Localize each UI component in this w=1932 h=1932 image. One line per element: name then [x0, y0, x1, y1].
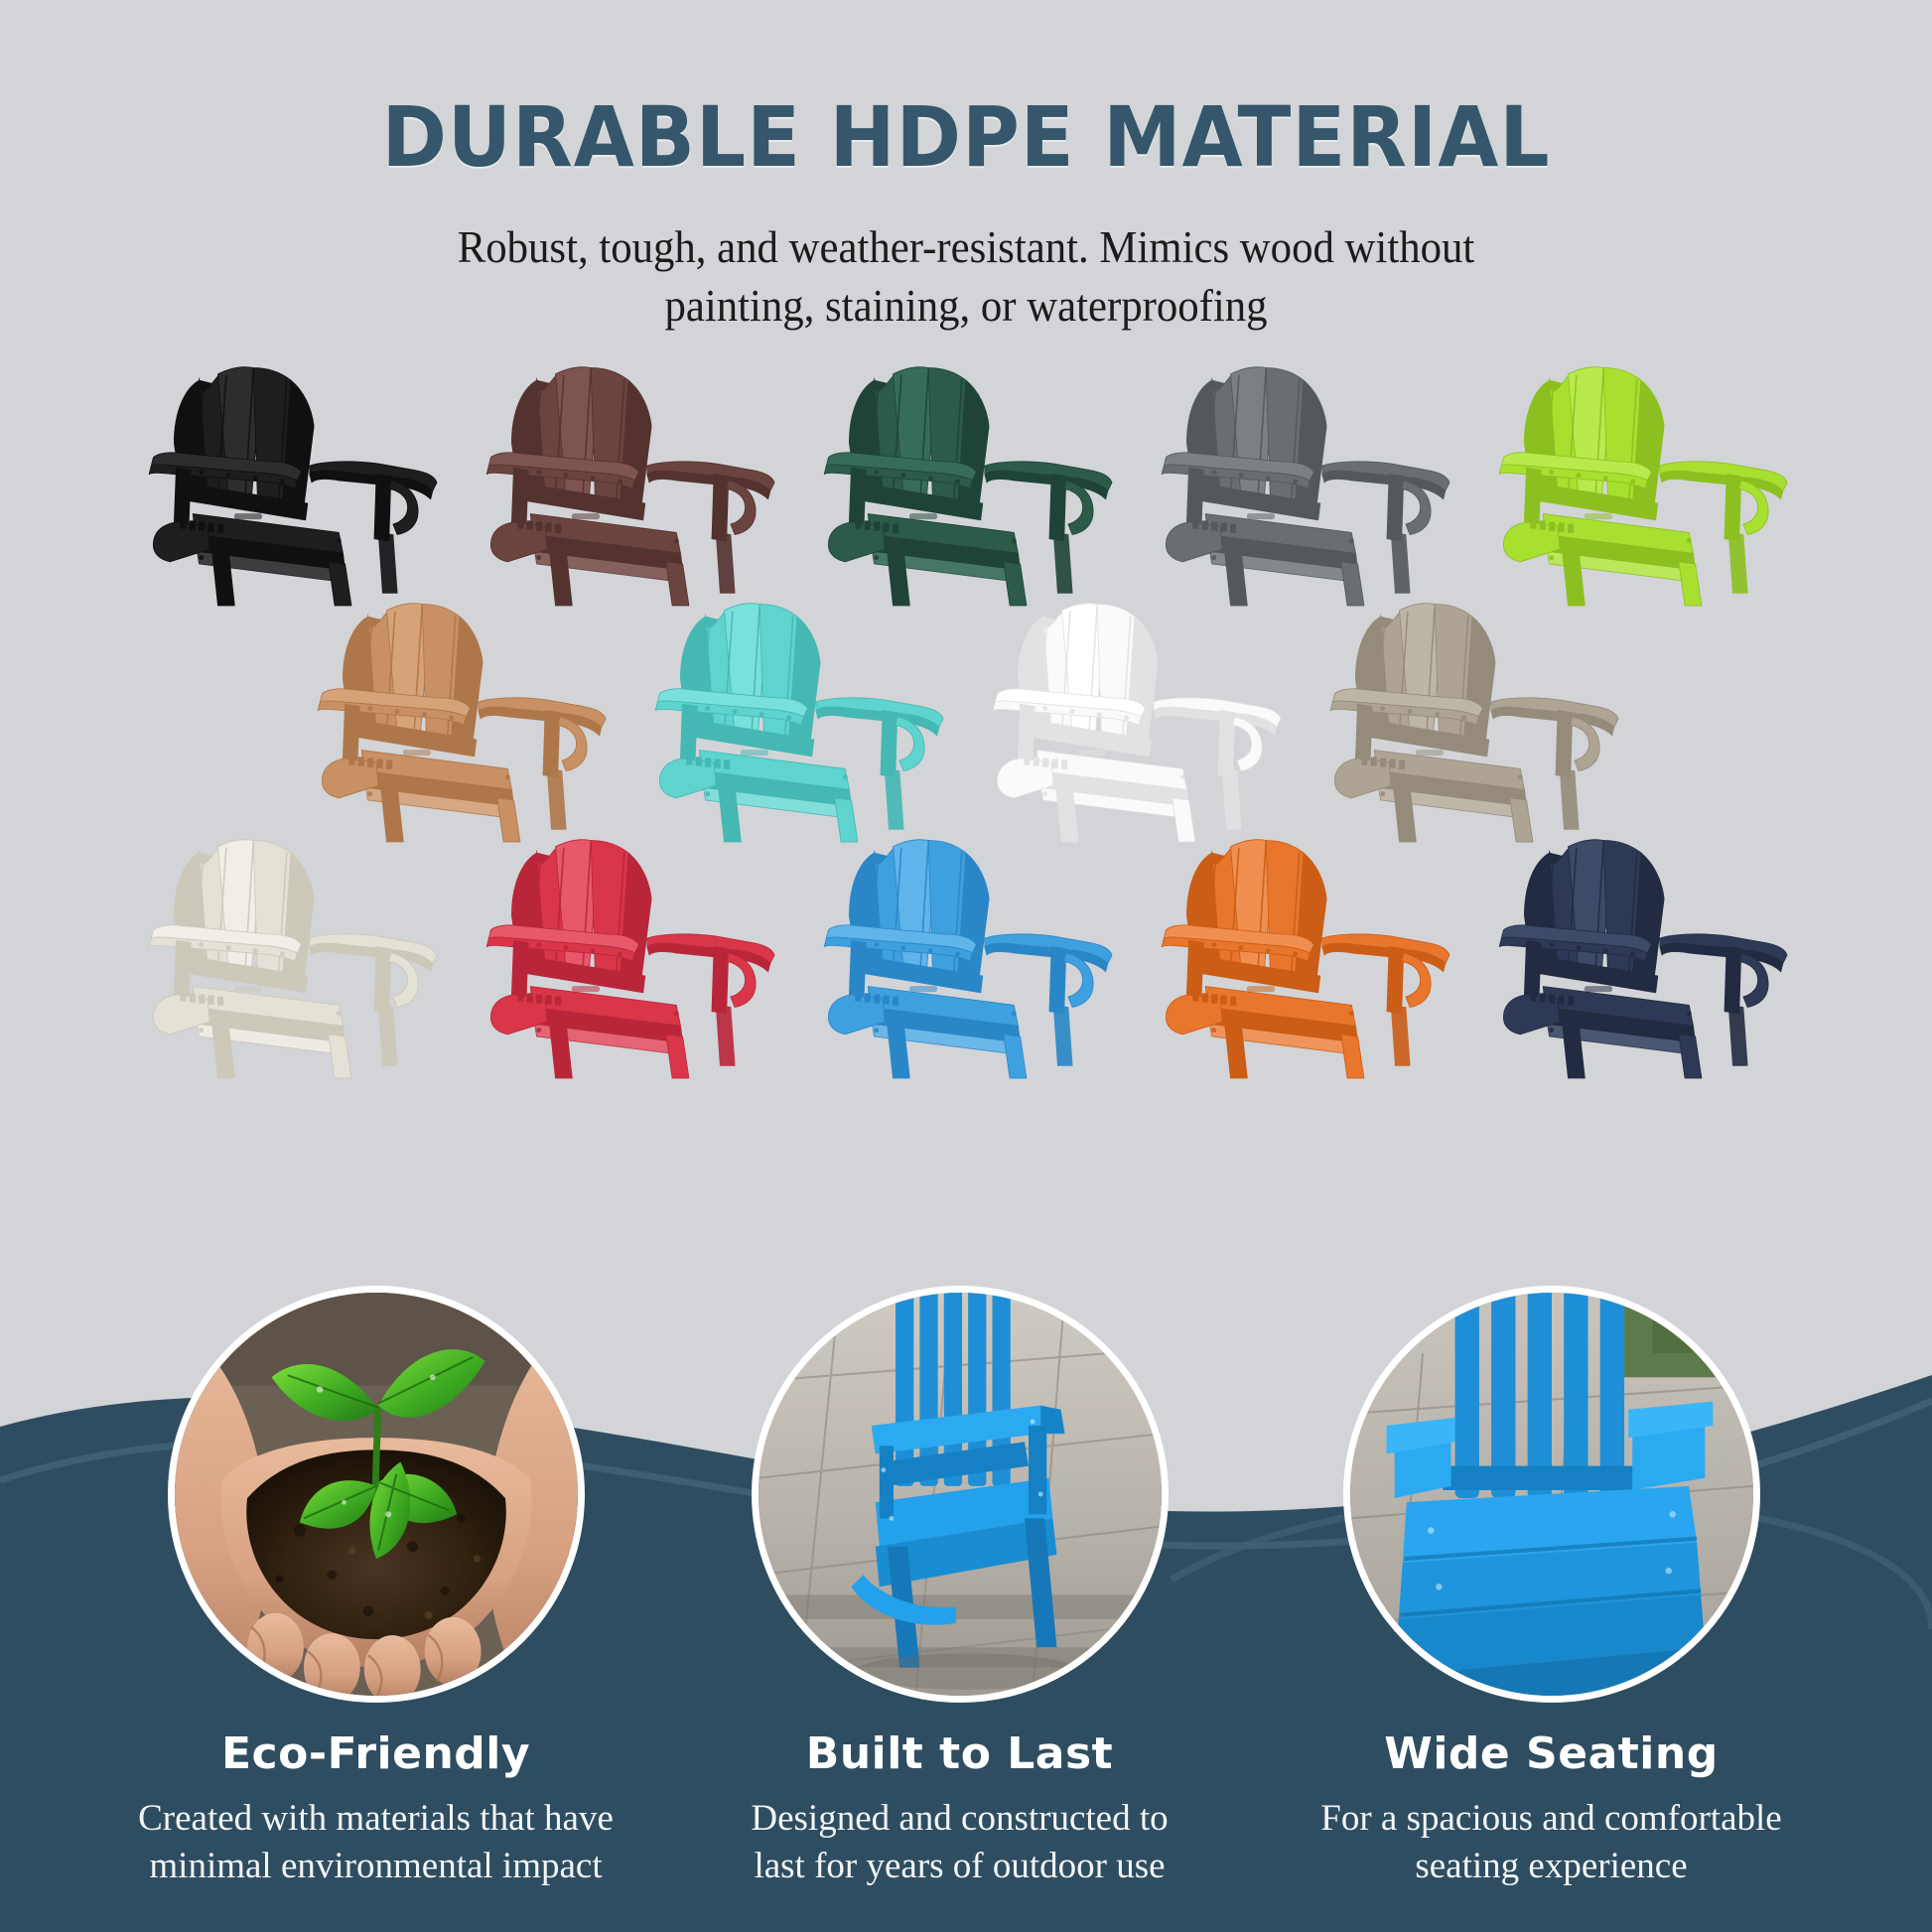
chair-swatch-weathered-wood[interactable]: [1314, 594, 1630, 844]
infographic-canvas: DURABLE HDPE MATERIAL Robust, tough, and…: [0, 0, 1932, 1932]
chair-swatch-blue[interactable]: [808, 830, 1124, 1080]
chair-swatch-turquoise[interactable]: [639, 594, 955, 844]
chair-white-icon: [977, 594, 1293, 844]
feature-built-to-last: Built to Last Designed and constructed t…: [695, 1286, 1224, 1890]
chair-swatch-ivory[interactable]: [133, 830, 449, 1080]
chair-turquoise-icon: [639, 594, 955, 844]
chair-blue-icon: [808, 830, 1124, 1080]
header: DURABLE HDPE MATERIAL Robust, tough, and…: [0, 0, 1932, 336]
feature-image-eco-friendly: [168, 1286, 585, 1703]
feature-desc-line-1: Designed and constructed to: [701, 1795, 1218, 1843]
feature-title: Built to Last: [695, 1728, 1224, 1779]
chair-color-grid: [0, 357, 1932, 1080]
page-title: DURABLE HDPE MATERIAL: [58, 0, 1873, 179]
chair-red-icon: [471, 830, 786, 1080]
feature-image-wide-seating: [1343, 1286, 1760, 1703]
chair-navy-icon: [1483, 830, 1799, 1080]
page-subtitle: Robust, tough, and weather-resistant. Mi…: [68, 218, 1864, 336]
chair-ivory-icon: [133, 830, 449, 1080]
chair-swatch-lime[interactable]: [1483, 357, 1799, 608]
chair-black-icon: [133, 357, 449, 608]
subtitle-line-1: Robust, tough, and weather-resistant. Mi…: [345, 218, 1587, 277]
chair-swatch-navy[interactable]: [1483, 830, 1799, 1080]
feature-description: Created with materials that have minimal…: [111, 1795, 640, 1890]
chair-swatch-brown[interactable]: [471, 357, 786, 608]
chair-swatch-red[interactable]: [471, 830, 786, 1080]
feature-title: Wide Seating: [1287, 1728, 1816, 1779]
feature-highlights: Eco-Friendly Created with materials that…: [0, 1177, 1932, 1932]
chair-row-2: [0, 594, 1932, 844]
feature-wide-seating: Wide Seating For a spacious and comforta…: [1287, 1286, 1816, 1890]
feature-desc-line-1: For a spacious and comfortable: [1293, 1795, 1810, 1843]
chair-swatch-gray[interactable]: [1146, 357, 1461, 608]
chair-weathered-wood-icon: [1314, 594, 1630, 844]
chair-row-3: [0, 830, 1932, 1080]
feature-desc-line-2: last for years of outdoor use: [701, 1843, 1218, 1890]
chair-swatch-teak[interactable]: [302, 594, 618, 844]
feature-desc-line-2: seating experience: [1293, 1843, 1810, 1890]
blue-chair-wide-seat-icon: [1350, 1293, 1753, 1696]
chair-swatch-black[interactable]: [133, 357, 449, 608]
chair-orange-icon: [1146, 830, 1461, 1080]
chair-teak-icon: [302, 594, 618, 844]
chair-dark-green-icon: [808, 357, 1124, 608]
feature-eco-friendly: Eco-Friendly Created with materials that…: [111, 1286, 640, 1890]
seedling-in-hands-icon: [175, 1293, 578, 1696]
chair-brown-icon: [471, 357, 786, 608]
chair-swatch-orange[interactable]: [1146, 830, 1461, 1080]
blue-chair-patio-icon: [759, 1293, 1162, 1696]
feature-title: Eco-Friendly: [111, 1728, 640, 1779]
feature-desc-line-2: minimal environmental impact: [117, 1843, 634, 1890]
feature-description: For a spacious and comfortable seating e…: [1287, 1795, 1816, 1890]
chair-lime-icon: [1483, 357, 1799, 608]
chair-swatch-dark-green[interactable]: [808, 357, 1124, 608]
subtitle-line-2: painting, staining, or waterproofing: [345, 277, 1587, 336]
feature-desc-line-1: Created with materials that have: [117, 1795, 634, 1843]
chair-row-1: [0, 357, 1932, 608]
feature-image-built-to-last: [752, 1286, 1169, 1703]
feature-description: Designed and constructed to last for yea…: [695, 1795, 1224, 1890]
chair-gray-icon: [1146, 357, 1461, 608]
chair-swatch-white[interactable]: [977, 594, 1293, 844]
